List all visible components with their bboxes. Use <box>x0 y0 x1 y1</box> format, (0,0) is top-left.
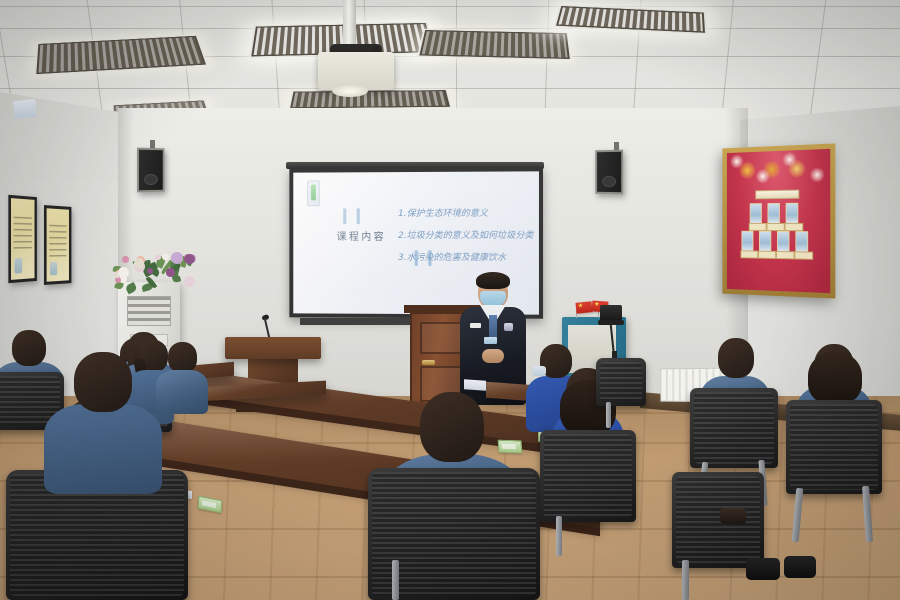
id-card <box>484 337 497 344</box>
shoulder-emblem-icon <box>504 323 513 331</box>
face-mask-icon <box>480 291 506 306</box>
flower-arrangement <box>104 250 196 292</box>
honor-board-photo-card <box>767 203 779 225</box>
wall-speaker-right <box>595 150 623 195</box>
slide-heading: 课程内容 <box>337 228 387 243</box>
quote-mark-icon: ❙❙ <box>339 208 366 223</box>
door-handle[interactable] <box>422 360 435 365</box>
framed-certificate <box>44 205 71 285</box>
chair-leg <box>606 402 611 428</box>
honor-board-title-plaque <box>755 190 799 200</box>
office-chair-empty[interactable] <box>672 472 764 568</box>
honor-board-photo-card <box>777 231 790 253</box>
air-conditioner-vent <box>127 296 171 326</box>
presenter-hair <box>476 272 510 289</box>
office-chair-empty[interactable] <box>596 358 646 406</box>
decorative-flower <box>184 276 195 287</box>
decorative-flower <box>122 256 128 262</box>
chair-leg <box>392 560 399 600</box>
decorative-flower <box>155 255 160 260</box>
green-indicator-logo-icon <box>307 180 320 206</box>
framed-certificate <box>8 195 37 283</box>
ceiling-light-panel <box>288 89 453 110</box>
honor-board-photo-card <box>741 231 753 253</box>
decorative-flower <box>171 252 183 264</box>
slide-bullet-list: 1.保护生态环境的意义 2.垃圾分类的意义及如何垃圾分类 3.水污染的危害及健康… <box>398 210 539 277</box>
slide-item: 2.垃圾分类的意义及如何垃圾分类 <box>398 232 539 241</box>
av-equipment <box>600 305 622 321</box>
ceiling-light-panel <box>417 29 572 61</box>
footwear <box>720 508 746 524</box>
paper-sheet[interactable] <box>464 379 486 391</box>
honor-board-photo-card <box>795 231 808 253</box>
presenter-hands <box>482 349 504 363</box>
decorative-flower <box>162 254 168 260</box>
lectern-top <box>225 337 321 359</box>
long-hair <box>808 352 862 404</box>
decorative-flower <box>810 168 824 183</box>
chair-leg <box>682 560 689 600</box>
face-mask-icon <box>532 366 546 376</box>
decorative-flower <box>134 258 145 269</box>
chinese-flag-icon <box>575 301 592 314</box>
audience-member <box>44 352 162 482</box>
honor-board-photo-card <box>786 203 799 225</box>
office-chair[interactable] <box>540 430 636 522</box>
decorative-flower <box>184 254 194 264</box>
training-room-photo: ❙❙ ❙❙ 课程内容 1.保护生态环境的意义 2.垃圾分类的意义及如何垃圾分类 … <box>0 0 900 600</box>
honor-board-photo-card <box>759 231 771 253</box>
decorative-flower <box>118 267 129 278</box>
honor-board-content <box>727 149 830 293</box>
office-chair[interactable] <box>690 388 778 468</box>
honor-display-board <box>722 143 835 298</box>
papers-on-table <box>13 99 37 120</box>
footwear <box>746 558 780 580</box>
chair-leg <box>556 516 562 556</box>
office-chair[interactable] <box>786 400 882 494</box>
honor-board-photo-card <box>750 203 762 225</box>
footwear <box>784 556 816 578</box>
slide-item: 1.保护生态环境的意义 <box>398 210 539 219</box>
name-badge <box>470 323 481 328</box>
wall-speaker-left <box>137 148 164 193</box>
ceiling-projector <box>318 52 394 90</box>
decorative-flower <box>756 169 769 183</box>
decorative-flower <box>166 268 174 276</box>
slide-item: 3.水污染的危害及健康饮水 <box>398 254 539 263</box>
